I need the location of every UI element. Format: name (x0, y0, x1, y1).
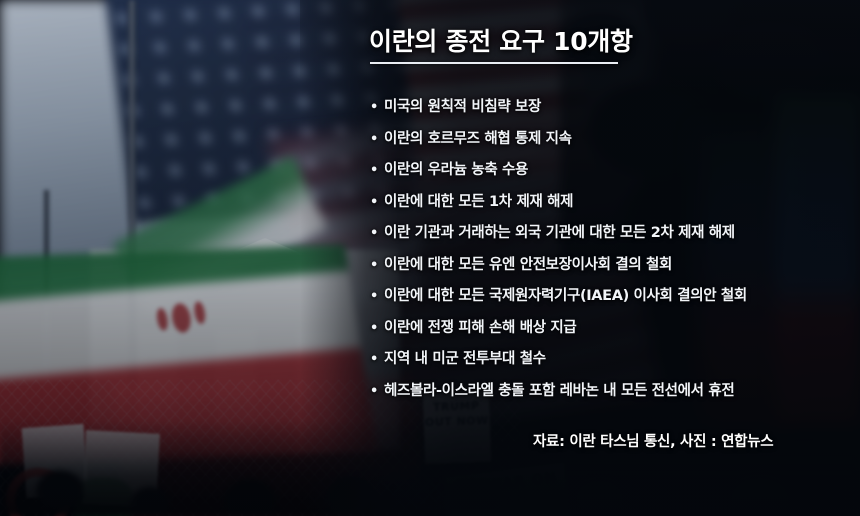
list-item: 이란에 대한 모든 유엔 안전보장이사회 결의 철회 (370, 250, 840, 282)
list-item: 이란에 전쟁 피해 손해 배상 지급 (370, 313, 840, 345)
title-divider (370, 62, 618, 64)
list-item: 헤즈볼라-이스라엘 충돌 포함 레바논 내 모든 전선에서 휴전 (370, 376, 840, 408)
list-item: 이란의 호르무즈 해협 통제 지속 (370, 124, 840, 156)
page-title: 이란의 종전 요구 10개항 (369, 22, 633, 58)
graphic-content: 이란의 종전 요구 10개항 미국의 원칙적 비침략 보장 이란의 호르무즈 해… (0, 0, 860, 516)
list-item: 이란에 대한 모든 국제원자력기구(IAEA) 이사회 결의안 철회 (370, 281, 840, 313)
demand-list: 미국의 원칙적 비침략 보장 이란의 호르무즈 해협 통제 지속 이란의 우라늄… (370, 92, 840, 407)
list-item: 지역 내 미군 전투부대 철수 (370, 344, 840, 376)
list-item: 미국의 원칙적 비침략 보장 (370, 92, 840, 124)
news-graphic: TRUMP OUT NOW NO WAR ON IRAN 이란의 종전 요구 1… (0, 0, 860, 516)
source-credit: 자료: 이란 타스님 통신, 사진 : 연합뉴스 (533, 430, 773, 451)
list-item: 이란의 우라늄 농축 수용 (370, 155, 840, 187)
list-item: 이란에 대한 모든 1차 제재 해제 (370, 187, 840, 219)
list-item: 이란 기관과 거래하는 외국 기관에 대한 모든 2차 제재 해제 (370, 218, 840, 250)
